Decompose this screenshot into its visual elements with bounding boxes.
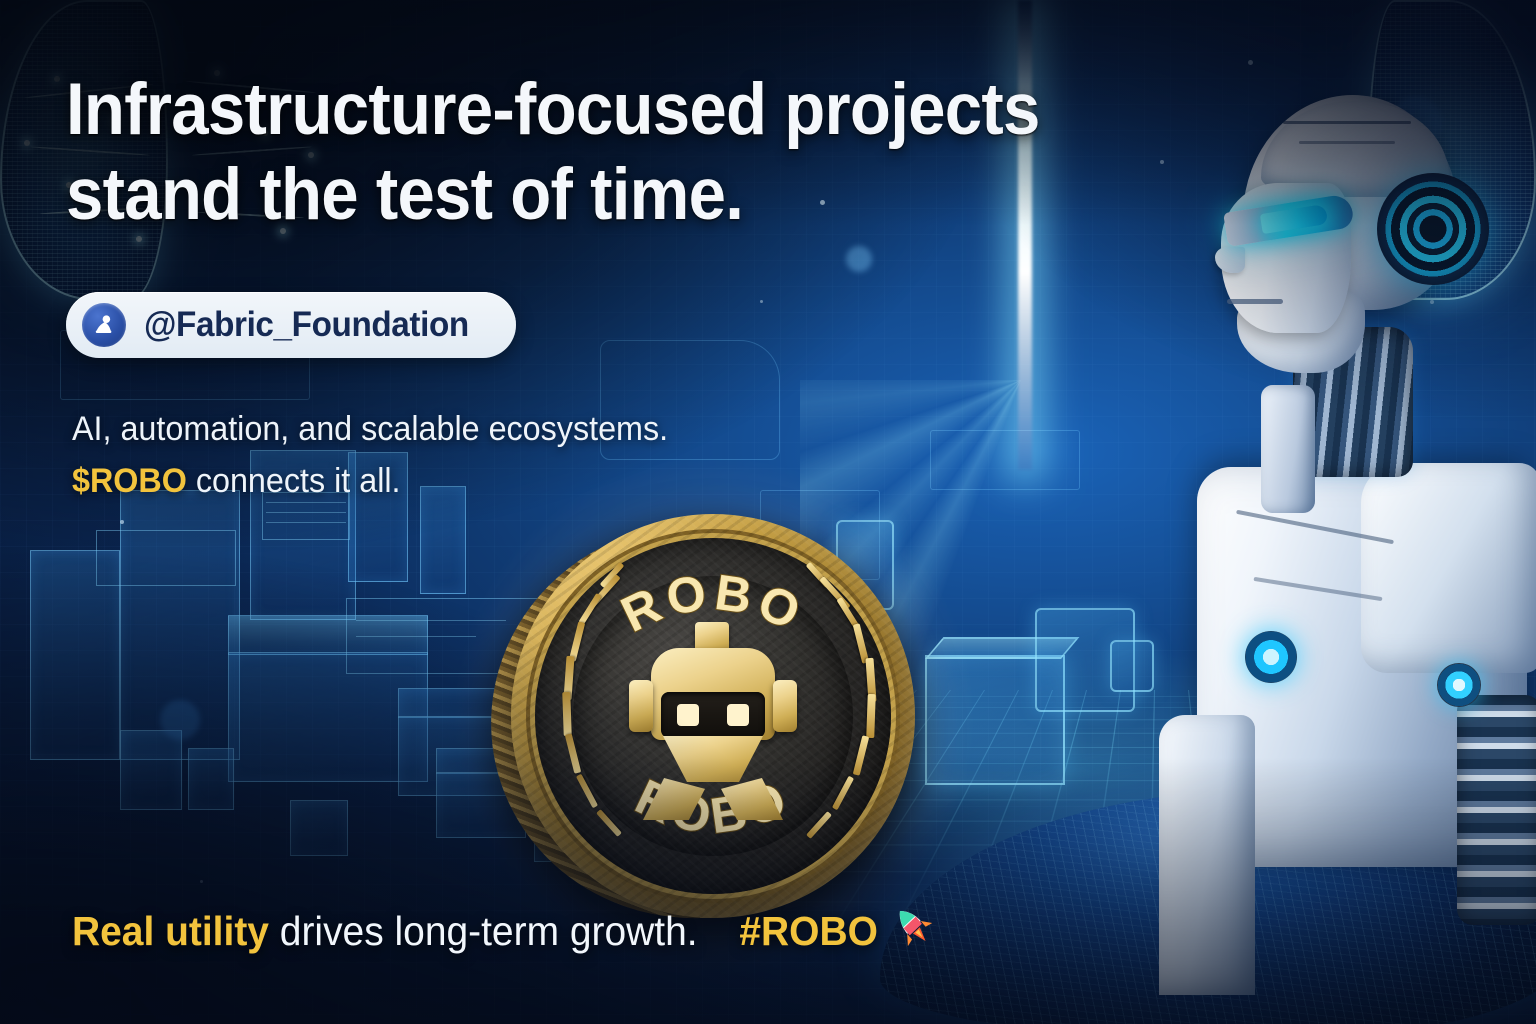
robot-mouth <box>1227 299 1283 304</box>
user-profile-icon <box>82 303 126 347</box>
robot-head-icon <box>629 622 797 818</box>
robo-coin: ROBO ROBO <box>505 508 923 926</box>
tagline-rest: drives long-term growth. <box>269 908 698 954</box>
robot-emblem-eye <box>677 704 699 726</box>
robot-ear-module-icon <box>1377 173 1489 285</box>
robot-emblem-shoulder <box>643 778 705 820</box>
circuit-trace <box>930 430 1080 490</box>
robot-side-panel <box>1457 695 1536 925</box>
token-ticker: $ROBO <box>72 462 187 500</box>
handle-text: @Fabric_Foundation <box>144 305 469 345</box>
hashtag: #ROBO <box>739 908 878 954</box>
humanoid-robot <box>1165 95 1536 1024</box>
tagline-highlight: Real utility <box>72 908 269 954</box>
coin-face: ROBO ROBO <box>511 514 915 918</box>
robot-emblem-chin <box>663 736 763 782</box>
robot-neck <box>1261 385 1315 513</box>
subcopy-line-2: $ROBO connects it all. <box>72 456 832 508</box>
robot-core-light-icon <box>1245 631 1297 683</box>
rocket-icon <box>891 903 935 959</box>
robot-shoulder <box>1361 463 1536 673</box>
robot-core-light-icon <box>1437 663 1481 707</box>
robot-arm <box>1159 715 1255 995</box>
robot-emblem-ear <box>629 680 653 732</box>
promo-banner: ROBO ROBO Infrastructure-fo <box>0 0 1536 1024</box>
subcopy: AI, automation, and scalable ecosystems.… <box>72 404 832 507</box>
robot-emblem-eye <box>727 704 749 726</box>
robot-helmet-seam <box>1283 121 1411 124</box>
handle-badge[interactable]: @Fabric_Foundation <box>66 292 516 358</box>
robot-emblem-shoulder <box>721 778 783 820</box>
robot-nose <box>1215 247 1245 273</box>
headline-line-2: stand the test of time. <box>66 153 1060 238</box>
tagline: Real utility drives long-term growth.#RO… <box>72 903 935 959</box>
robot-emblem-ear <box>773 680 797 732</box>
headline: Infrastructure-focused projects stand th… <box>66 68 1060 237</box>
headline-line-1: Infrastructure-focused projects <box>66 68 1060 153</box>
robot-helmet-seam <box>1299 141 1395 144</box>
subcopy-line-1: AI, automation, and scalable ecosystems. <box>72 404 832 456</box>
holo-panel <box>1110 640 1154 692</box>
subcopy-line-2-rest: connects it all. <box>187 462 401 500</box>
